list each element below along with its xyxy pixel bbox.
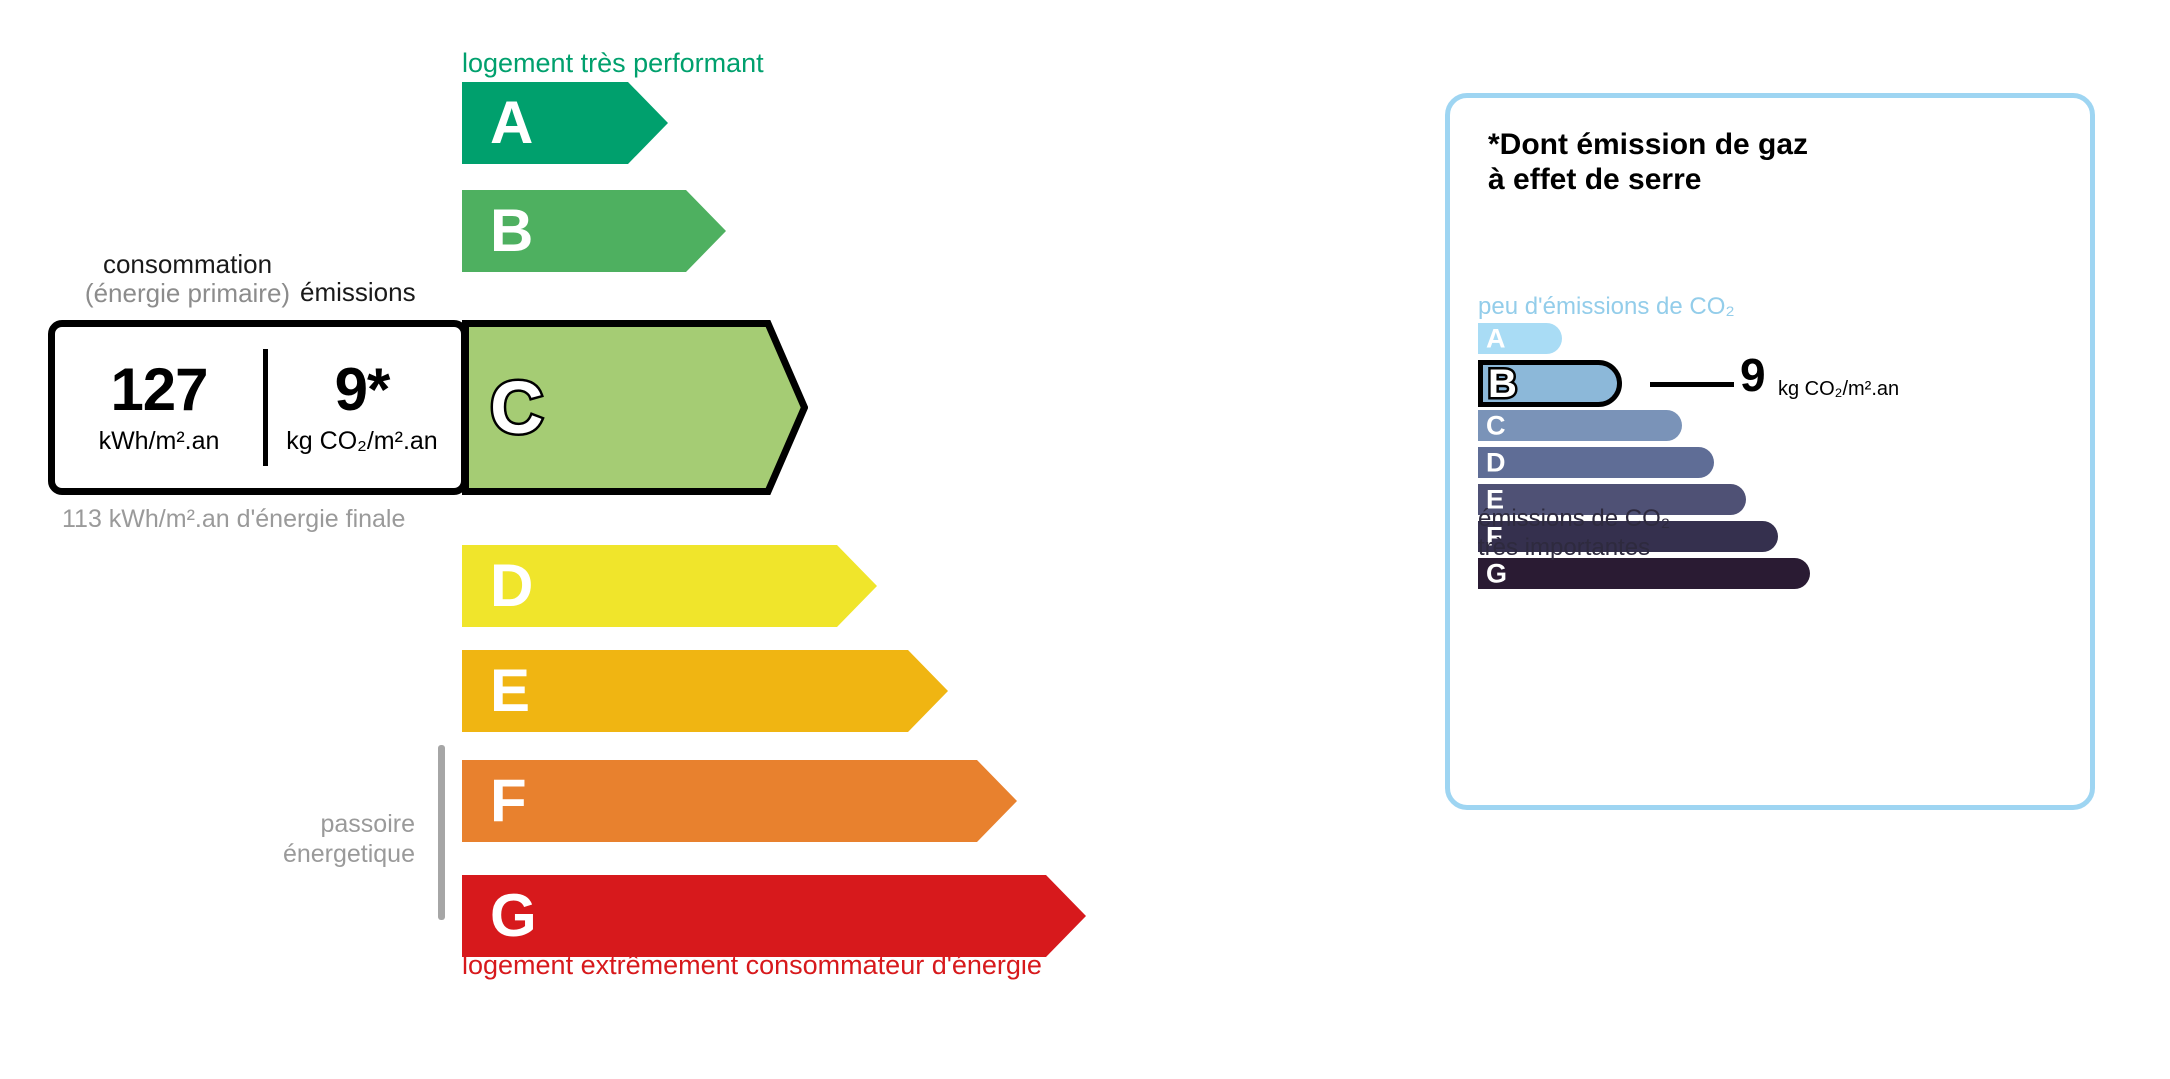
co2-leader-line <box>1650 382 1734 387</box>
consumption-value: 127 <box>110 360 207 420</box>
co2-bar-letter-a: A <box>1486 325 1506 352</box>
consumption-unit: kWh/m².an <box>99 427 220 456</box>
energy-bar-e: E <box>462 650 948 732</box>
energy-bar-shape-b <box>462 190 726 272</box>
co2-bar-d <box>1478 447 1714 478</box>
final-energy-note: 113 kWh/m².an d'énergie finale <box>62 505 405 535</box>
consumption-header: consommation (énergie primaire) <box>60 250 315 308</box>
consumption-header-sub: (énergie primaire) <box>60 279 315 308</box>
co2-bar-letter-g: G <box>1486 560 1507 587</box>
emissions-unit: kg CO₂/m².an <box>286 427 437 456</box>
emissions-value-cell: 9* kg CO₂/m².an <box>263 327 461 488</box>
energy-bar-a: A <box>462 82 668 164</box>
energy-bar-shape-e <box>462 650 948 732</box>
co2-bottom-caption: émissions de CO₂ très importantes <box>1478 505 1670 563</box>
co2-bar-letter-c: C <box>1486 412 1506 439</box>
co2-value-unit: kg CO₂/m².an <box>1778 378 1899 401</box>
energy-bar-shape-g <box>462 875 1086 957</box>
scale-top-caption: logement très performant <box>462 48 764 79</box>
consumption-value-cell: 127 kWh/m².an <box>55 327 263 488</box>
co2-bar-letter-d: D <box>1486 449 1506 476</box>
energy-bar-g: G <box>462 875 1086 957</box>
co2-panel: *Dont émission de gaz à effet de serre p… <box>1445 93 2095 810</box>
energy-bar-b: B <box>462 190 726 272</box>
emissions-header: émissions <box>300 277 416 308</box>
energy-bar-c: C <box>462 320 808 495</box>
co2-value: 9 <box>1740 352 1766 398</box>
energy-bar-shape-a <box>462 82 668 164</box>
dpe-energy-scale: logement très performant consommation (é… <box>0 0 1400 1079</box>
scale-bottom-caption: logement extrêmement consommateur d'éner… <box>462 950 1042 981</box>
passoire-bracket <box>438 745 445 920</box>
passoire-label: passoire énergetique <box>200 810 415 869</box>
energy-bar-f: F <box>462 760 1017 842</box>
consumption-header-main: consommation <box>103 249 272 279</box>
energy-bar-shape-c <box>462 320 808 495</box>
value-box: 127 kWh/m².an 9* kg CO₂/m².an <box>48 320 468 495</box>
energy-bar-shape-f <box>462 760 1017 842</box>
co2-bar-g <box>1478 558 1810 589</box>
co2-panel-title: *Dont émission de gaz à effet de serre <box>1488 127 1808 197</box>
co2-top-caption: peu d'émissions de CO₂ <box>1478 293 1735 321</box>
co2-bar-letter-b: B <box>1488 364 1517 404</box>
co2-bar-c <box>1478 410 1682 441</box>
energy-bar-shape-d <box>462 545 877 627</box>
emissions-value: 9* <box>335 360 390 420</box>
energy-bar-d: D <box>462 545 877 627</box>
